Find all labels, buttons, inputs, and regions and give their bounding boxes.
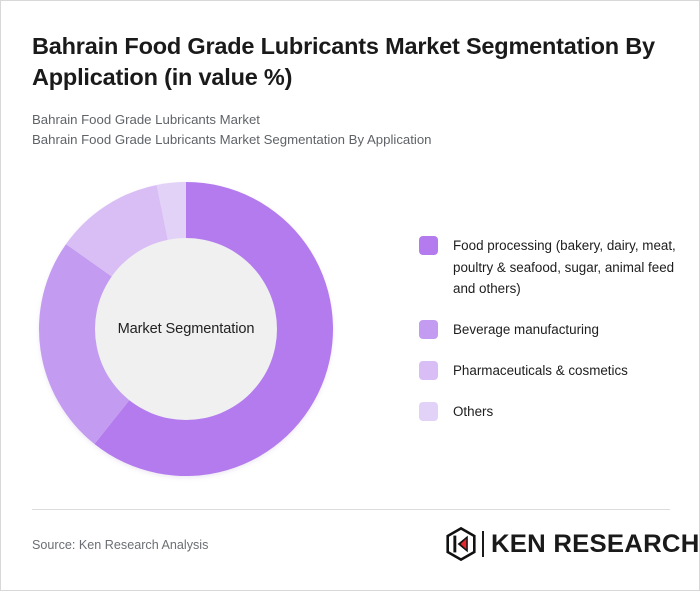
legend-item-label: Pharmaceuticals & cosmetics bbox=[453, 360, 628, 382]
legend-swatch-icon bbox=[419, 361, 438, 380]
brand-logo: KEN RESEARCH bbox=[446, 525, 693, 563]
legend-item-label: Food processing (bakery, dairy, meat, po… bbox=[453, 235, 681, 300]
source-note: Source: Ken Research Analysis bbox=[32, 538, 208, 552]
legend-swatch-icon bbox=[419, 402, 438, 421]
subtitle-segmentation: Bahrain Food Grade Lubricants Market Seg… bbox=[32, 130, 672, 150]
chart-canvas: Bahrain Food Grade Lubricants Market Seg… bbox=[0, 0, 700, 591]
legend-swatch-icon bbox=[419, 320, 438, 339]
legend-item[interactable]: Pharmaceuticals & cosmetics bbox=[419, 360, 681, 382]
legend-item[interactable]: Food processing (bakery, dairy, meat, po… bbox=[419, 235, 681, 300]
chart-area: Market Segmentation Food processing (bak… bbox=[1, 169, 700, 499]
donut-chart-svg bbox=[26, 169, 346, 489]
subtitle-market: Bahrain Food Grade Lubricants Market bbox=[32, 110, 672, 130]
legend-item[interactable]: Others bbox=[419, 401, 681, 423]
legend-item-label: Others bbox=[453, 401, 493, 423]
brand-divider bbox=[482, 531, 484, 557]
brand-name: KEN RESEARCH bbox=[491, 532, 700, 557]
donut-chart: Market Segmentation bbox=[26, 169, 346, 489]
footer-divider bbox=[32, 509, 670, 510]
chart-header: Bahrain Food Grade Lubricants Market Seg… bbox=[32, 31, 672, 150]
subtitle-group: Bahrain Food Grade Lubricants Market Bah… bbox=[32, 110, 672, 150]
legend-item-label: Beverage manufacturing bbox=[453, 319, 599, 341]
legend-swatch-icon bbox=[419, 236, 438, 255]
ken-research-hexagon-k-logo-icon bbox=[446, 527, 476, 561]
donut-hole bbox=[95, 238, 277, 420]
page-title: Bahrain Food Grade Lubricants Market Seg… bbox=[32, 31, 672, 93]
chart-legend: Food processing (bakery, dairy, meat, po… bbox=[419, 235, 681, 422]
legend-item[interactable]: Beverage manufacturing bbox=[419, 319, 681, 341]
